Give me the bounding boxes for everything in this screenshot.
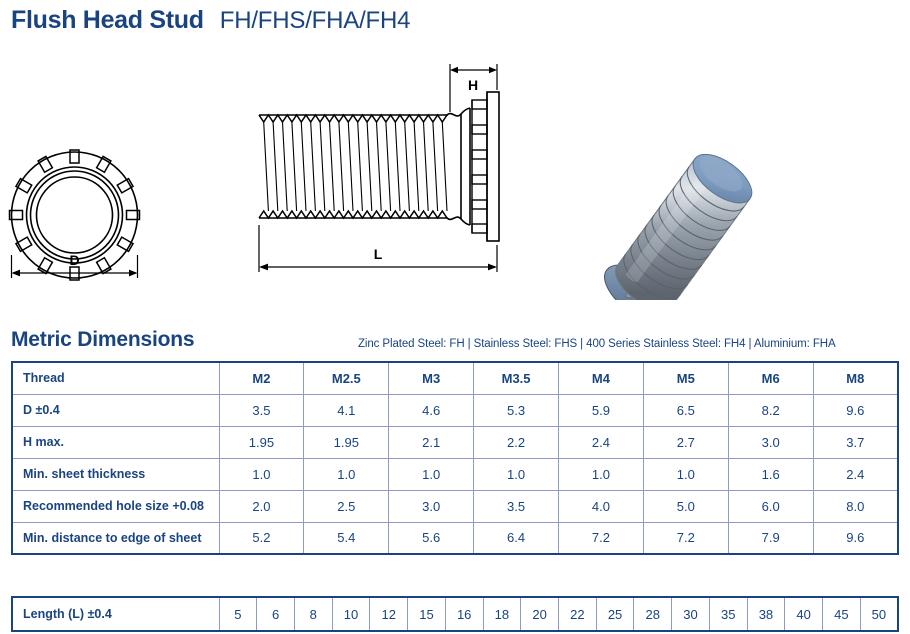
cell-d-m4: 5.9 [559,394,644,426]
cell-mde-m2-5: 5.4 [304,522,389,554]
cell-mst-m6: 1.6 [728,458,813,490]
cell-mde-m3: 5.6 [389,522,474,554]
length-option-15: 15 [408,597,446,631]
cell-mde-m5: 7.2 [643,522,728,554]
cell-rhs-m5: 5.0 [643,490,728,522]
datasheet-page: Flush Head Stud FH/FHS/FHA/FH4 [0,0,910,634]
cell-h-m3-5: 2.2 [474,426,559,458]
cell-h-m2-5: 1.95 [304,426,389,458]
cell-d-m6: 8.2 [728,394,813,426]
length-option-8: 8 [294,597,332,631]
row-label-min-sheet-thickness: Min. sheet thickness [12,458,219,490]
column-header-m2: M2 [219,362,304,394]
cell-d-m2-5: 4.1 [304,394,389,426]
length-option-35: 35 [709,597,747,631]
cell-rhs-m8: 8.0 [813,490,898,522]
cell-h-m2: 1.95 [219,426,304,458]
column-header-m2-5: M2.5 [304,362,389,394]
cell-mst-m2: 1.0 [219,458,304,490]
cell-d-m2: 3.5 [219,394,304,426]
cell-mst-m2-5: 1.0 [304,458,389,490]
page-header: Flush Head Stud FH/FHS/FHA/FH4 [11,6,410,35]
cell-mde-m6: 7.9 [728,522,813,554]
cell-rhs-m2: 2.0 [219,490,304,522]
table-row: D ±0.4 3.5 4.1 4.6 5.3 5.9 6.5 8.2 9.6 [12,394,898,426]
cell-mst-m3: 1.0 [389,458,474,490]
length-option-5: 5 [219,597,257,631]
column-header-m3: M3 [389,362,474,394]
table-header-row: Thread M2 M2.5 M3 M3.5 M4 M5 M6 M8 [12,362,898,394]
length-options-table: Length (L) ±0.4 5 6 8 10 12 15 16 18 20 … [11,596,899,632]
dimension-h-label: H [468,77,478,93]
row-label-recommended-hole-size: Recommended hole size +0.08 [12,490,219,522]
length-option-18: 18 [483,597,521,631]
row-label-d: D ±0.4 [12,394,219,426]
length-option-38: 38 [747,597,785,631]
cell-h-m6: 3.0 [728,426,813,458]
cell-mde-m8: 9.6 [813,522,898,554]
length-option-16: 16 [445,597,483,631]
cell-mst-m5: 1.0 [643,458,728,490]
product-codes: FH/FHS/FHA/FH4 [220,7,411,35]
length-option-12: 12 [370,597,408,631]
length-option-28: 28 [634,597,672,631]
column-header-m3-5: M3.5 [474,362,559,394]
table-row: H max. 1.95 1.95 2.1 2.2 2.4 2.7 3.0 3.7 [12,426,898,458]
stud-3d-render [595,141,765,300]
cell-mde-m4: 7.2 [559,522,644,554]
page-title: Flush Head Stud [11,6,204,35]
cell-d-m3: 4.6 [389,394,474,426]
cell-d-m5: 6.5 [643,394,728,426]
length-option-40: 40 [785,597,823,631]
cell-rhs-m4: 4.0 [559,490,644,522]
section-materials-note: Zinc Plated Steel: FH | Stainless Steel:… [358,338,836,350]
length-option-25: 25 [596,597,634,631]
length-option-50: 50 [860,597,898,631]
cell-rhs-m3-5: 3.5 [474,490,559,522]
cell-rhs-m3: 3.0 [389,490,474,522]
row-label-length: Length (L) ±0.4 [12,597,219,631]
length-option-20: 20 [521,597,559,631]
table-row: Min. distance to edge of sheet 5.2 5.4 5… [12,522,898,554]
length-option-22: 22 [558,597,596,631]
column-header-m5: M5 [643,362,728,394]
column-header-m6: M6 [728,362,813,394]
dimension-d-label: D [69,252,79,268]
column-header-m4: M4 [559,362,644,394]
cell-d-m3-5: 5.3 [474,394,559,426]
table-row: Recommended hole size +0.08 2.0 2.5 3.0 … [12,490,898,522]
cell-mde-m3-5: 6.4 [474,522,559,554]
length-option-45: 45 [823,597,861,631]
row-label-min-distance-to-edge: Min. distance to edge of sheet [12,522,219,554]
cell-h-m3: 2.1 [389,426,474,458]
cell-mst-m3-5: 1.0 [474,458,559,490]
cell-mst-m4: 1.0 [559,458,644,490]
column-header-m8: M8 [813,362,898,394]
cell-h-m5: 2.7 [643,426,728,458]
cell-mde-m2: 5.2 [219,522,304,554]
section-title: Metric Dimensions [11,328,194,352]
length-row: Length (L) ±0.4 5 6 8 10 12 15 16 18 20 … [12,597,898,631]
metric-dimensions-table: Thread M2 M2.5 M3 M3.5 M4 M5 M6 M8 D ±0.… [11,361,899,555]
length-option-30: 30 [672,597,710,631]
row-label-h-max: H max. [12,426,219,458]
drawing-area: D [0,50,910,300]
side-view-drawing [259,92,499,241]
cell-rhs-m2-5: 2.5 [304,490,389,522]
cell-d-m8: 9.6 [813,394,898,426]
column-header-thread: Thread [12,362,219,394]
dimension-l-label: L [374,246,383,262]
length-option-10: 10 [332,597,370,631]
cell-mst-m8: 2.4 [813,458,898,490]
length-option-6: 6 [257,597,295,631]
table-row: Min. sheet thickness 1.0 1.0 1.0 1.0 1.0… [12,458,898,490]
cell-h-m4: 2.4 [559,426,644,458]
cell-h-m8: 3.7 [813,426,898,458]
cell-rhs-m6: 6.0 [728,490,813,522]
